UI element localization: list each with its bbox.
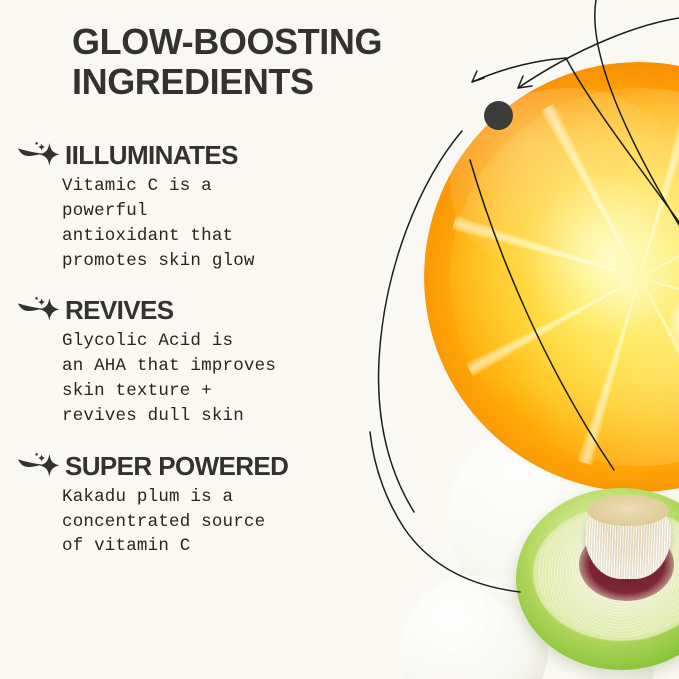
benefit-title: SUPER POWERED — [65, 453, 288, 479]
orange-citrus-slice — [424, 62, 679, 492]
annotation-curve-3a — [595, 0, 679, 225]
benefit-section-illuminates: IILLUMINATES Vitamic C is a powerful ant… — [0, 140, 400, 273]
plum-seed-crown — [587, 495, 669, 526]
serum-gel-droplet-tiny — [598, 652, 654, 679]
benefit-section-super-powered: SUPER POWERED Kakadu plum is a concentra… — [0, 451, 400, 560]
sparkle-shooting-star-icon — [16, 295, 62, 325]
page-title: GLOW-BOOSTING INGREDIENTS — [72, 22, 472, 103]
benefit-section-revives: REVIVES Glycolic Acid is an AHA that imp… — [0, 295, 400, 428]
serum-gel-droplet-small — [400, 576, 548, 679]
orange-pulp — [450, 88, 679, 466]
kakadu-plum-slice — [516, 488, 679, 670]
benefit-description: Glycolic Acid is an AHA that improves sk… — [62, 329, 400, 428]
benefit-heading-row: REVIVES — [0, 295, 400, 325]
benefit-title: REVIVES — [65, 297, 174, 323]
orange-highlight — [450, 88, 679, 282]
orange-edge-glow — [424, 62, 679, 492]
plum-flesh-texture — [537, 510, 679, 637]
serum-gel-droplet-large — [448, 418, 644, 614]
plum-flesh — [533, 506, 679, 641]
annotation-curve-2 — [518, 18, 679, 88]
orange-rind — [424, 62, 679, 492]
annotation-arrowhead-2 — [518, 76, 532, 88]
plum-skin — [516, 488, 679, 670]
text-column: GLOW-BOOSTING INGREDIENTS — [0, 0, 400, 679]
ingredient-benefit-list: IILLUMINATES Vitamic C is a powerful ant… — [0, 140, 400, 581]
benefit-description: Kakadu plum is a concentrated source of … — [62, 485, 400, 560]
benefit-description: Vitamic C is a powerful antioxidant that… — [62, 174, 400, 273]
annotation-curve-3b — [566, 58, 679, 222]
sparkle-shooting-star-icon — [16, 451, 62, 481]
poster-canvas: GLOW-BOOSTING INGREDIENTS — [0, 0, 679, 679]
orange-core — [669, 294, 679, 350]
plum-seed-cluster — [585, 499, 671, 579]
benefit-heading-row: IILLUMINATES — [0, 140, 400, 170]
plum-core-ring — [579, 528, 674, 601]
benefit-heading-row: SUPER POWERED — [0, 451, 400, 481]
annotation-arrowhead-1 — [472, 71, 484, 82]
marker-dot — [484, 101, 513, 130]
benefit-title: IILLUMINATES — [65, 142, 238, 168]
orange-segment-dividers — [446, 84, 679, 471]
annotation-curve-6 — [470, 160, 614, 470]
annotation-curve-1 — [472, 58, 566, 82]
sparkle-shooting-star-icon — [16, 140, 62, 170]
